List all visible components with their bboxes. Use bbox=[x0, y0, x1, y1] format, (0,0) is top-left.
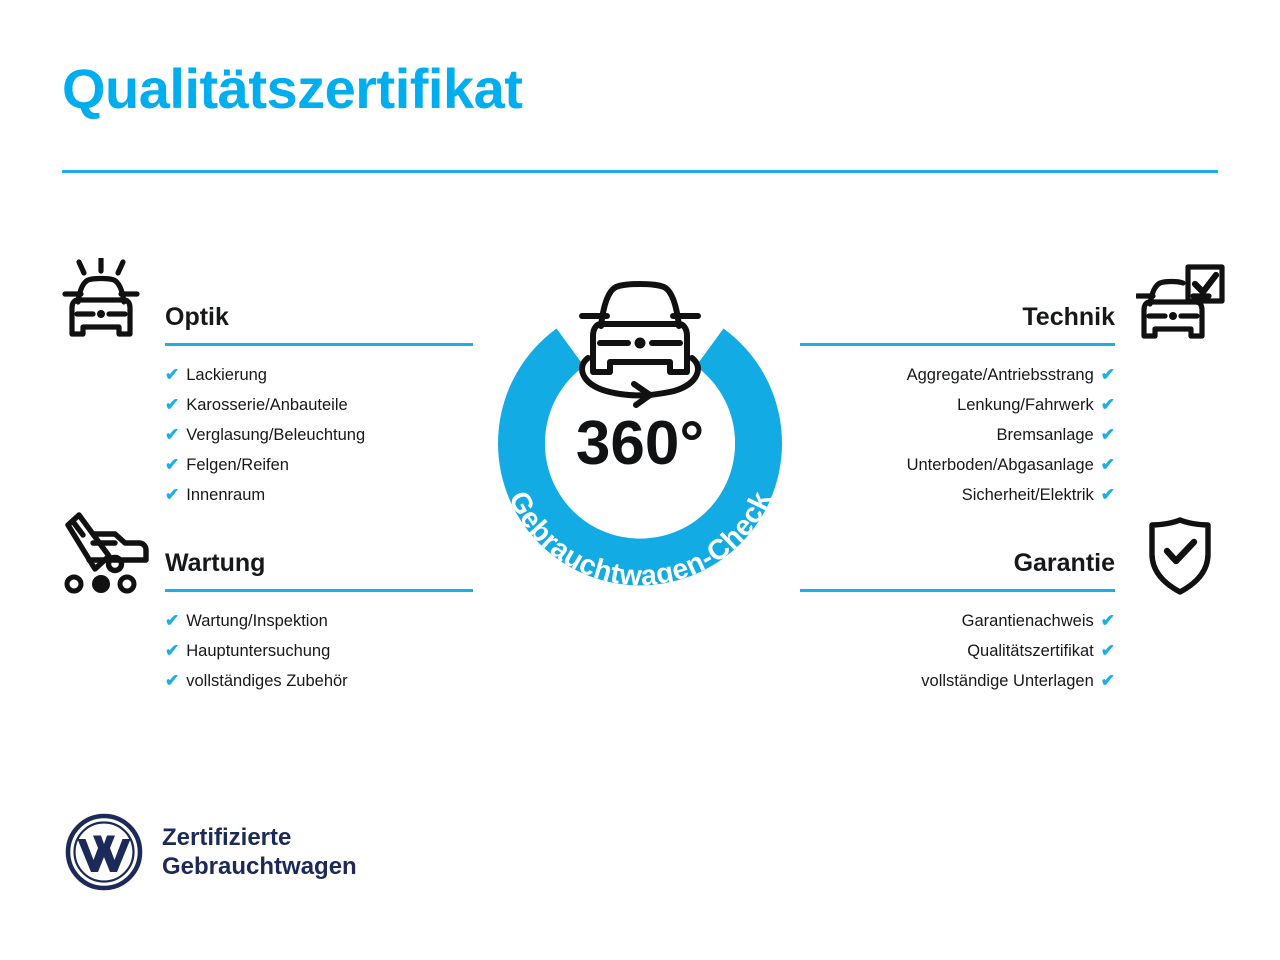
panel-garantie: Garantie Garantienachweis✔ Qualitätszert… bbox=[800, 546, 1115, 696]
list-item: ✔Karosserie/Anbauteile bbox=[165, 390, 473, 420]
list-item: Qualitätszertifikat✔ bbox=[800, 636, 1115, 666]
list-item: Sicherheit/Elektrik✔ bbox=[800, 480, 1115, 510]
footer-line-1: Zertifizierte bbox=[162, 823, 357, 852]
panel-wartung-list: ✔Wartung/Inspektion ✔Hauptuntersuchung ✔… bbox=[165, 606, 473, 696]
check-icon: ✔ bbox=[1101, 390, 1115, 420]
list-item-label: Hauptuntersuchung bbox=[186, 636, 330, 666]
check-icon: ✔ bbox=[1101, 666, 1115, 696]
list-item-label: vollständiges Zubehör bbox=[186, 666, 347, 696]
check-icon: ✔ bbox=[165, 450, 179, 480]
list-item-label: Unterboden/Abgasanlage bbox=[907, 450, 1094, 480]
panel-wartung-divider bbox=[165, 589, 473, 592]
list-item-label: Qualitätszertifikat bbox=[967, 636, 1094, 666]
list-item-label: Wartung/Inspektion bbox=[186, 606, 328, 636]
vw-logo-icon bbox=[64, 812, 144, 892]
panel-optik-title: Optik bbox=[165, 300, 473, 334]
list-item: ✔Felgen/Reifen bbox=[165, 450, 473, 480]
check-icon: ✔ bbox=[165, 360, 179, 390]
list-item: Lenkung/Fahrwerk✔ bbox=[800, 390, 1115, 420]
car-rotate-360-icon bbox=[582, 284, 698, 405]
shield-check-icon bbox=[1145, 516, 1215, 601]
list-item: vollständige Unterlagen✔ bbox=[800, 666, 1115, 696]
list-item-label: Felgen/Reifen bbox=[186, 450, 289, 480]
panel-garantie-title: Garantie bbox=[800, 546, 1115, 580]
page-title: Qualitätszertifikat bbox=[62, 58, 522, 120]
panel-optik-header: Optik bbox=[165, 300, 473, 346]
gebrauchtwagen-check-badge: 360° Gebrauchtwagen-Check bbox=[455, 252, 825, 630]
list-item: ✔Hauptuntersuchung bbox=[165, 636, 473, 666]
panel-wartung-header: Wartung bbox=[165, 546, 473, 592]
check-icon: ✔ bbox=[165, 666, 179, 696]
panel-garantie-list: Garantienachweis✔ Qualitätszertifikat✔ v… bbox=[800, 606, 1115, 696]
panel-garantie-divider bbox=[800, 589, 1115, 592]
footer-logo-text: Zertifizierte Gebrauchtwagen bbox=[162, 823, 357, 881]
list-item: ✔Verglasung/Beleuchtung bbox=[165, 420, 473, 450]
check-icon: ✔ bbox=[1101, 480, 1115, 510]
list-item: ✔vollständiges Zubehör bbox=[165, 666, 473, 696]
list-item-label: Verglasung/Beleuchtung bbox=[186, 420, 365, 450]
panel-technik-list: Aggregate/Antriebsstrang✔ Lenkung/Fahrwe… bbox=[800, 360, 1115, 510]
list-item-label: vollständige Unterlagen bbox=[921, 666, 1093, 696]
list-item: Aggregate/Antriebsstrang✔ bbox=[800, 360, 1115, 390]
footer-line-2: Gebrauchtwagen bbox=[162, 852, 357, 881]
list-item-label: Innenraum bbox=[186, 480, 265, 510]
title-divider bbox=[62, 170, 1218, 173]
check-icon: ✔ bbox=[1101, 450, 1115, 480]
check-icon: ✔ bbox=[1101, 636, 1115, 666]
list-item-label: Karosserie/Anbauteile bbox=[186, 390, 347, 420]
list-item: ✔Lackierung bbox=[165, 360, 473, 390]
list-item: ✔Innenraum bbox=[165, 480, 473, 510]
footer-logo: Zertifizierte Gebrauchtwagen bbox=[64, 812, 357, 892]
check-icon: ✔ bbox=[165, 390, 179, 420]
panel-technik: Technik Aggregate/Antriebsstrang✔ Lenkun… bbox=[800, 300, 1115, 510]
list-item-label: Garantienachweis bbox=[962, 606, 1094, 636]
list-item-label: Lackierung bbox=[186, 360, 267, 390]
list-item-label: Lenkung/Fahrwerk bbox=[957, 390, 1094, 420]
check-icon: ✔ bbox=[165, 636, 179, 666]
car-service-pen-icon bbox=[57, 512, 153, 601]
check-icon: ✔ bbox=[165, 480, 179, 510]
check-icon: ✔ bbox=[1101, 360, 1115, 390]
panel-technik-header: Technik bbox=[800, 300, 1115, 346]
panel-optik-divider bbox=[165, 343, 473, 346]
check-icon: ✔ bbox=[165, 606, 179, 636]
list-item: Garantienachweis✔ bbox=[800, 606, 1115, 636]
panel-garantie-header: Garantie bbox=[800, 546, 1115, 592]
panel-wartung: Wartung ✔Wartung/Inspektion ✔Hauptunters… bbox=[165, 546, 473, 696]
check-icon: ✔ bbox=[1101, 420, 1115, 450]
list-item-label: Sicherheit/Elektrik bbox=[962, 480, 1094, 510]
car-shine-icon bbox=[57, 258, 145, 349]
panel-optik-list: ✔Lackierung ✔Karosserie/Anbauteile ✔Verg… bbox=[165, 360, 473, 510]
check-icon: ✔ bbox=[165, 420, 179, 450]
list-item-label: Aggregate/Antriebsstrang bbox=[907, 360, 1094, 390]
panel-technik-divider bbox=[800, 343, 1115, 346]
panel-optik: Optik ✔Lackierung ✔Karosserie/Anbauteile… bbox=[165, 300, 473, 510]
panel-wartung-title: Wartung bbox=[165, 546, 473, 580]
check-icon: ✔ bbox=[1101, 606, 1115, 636]
car-checkbox-icon bbox=[1136, 264, 1226, 347]
list-item: ✔Wartung/Inspektion bbox=[165, 606, 473, 636]
panel-technik-title: Technik bbox=[800, 300, 1115, 334]
list-item-label: Bremsanlage bbox=[997, 420, 1094, 450]
list-item: Bremsanlage✔ bbox=[800, 420, 1115, 450]
list-item: Unterboden/Abgasanlage✔ bbox=[800, 450, 1115, 480]
badge-center-label: 360° bbox=[576, 409, 704, 478]
